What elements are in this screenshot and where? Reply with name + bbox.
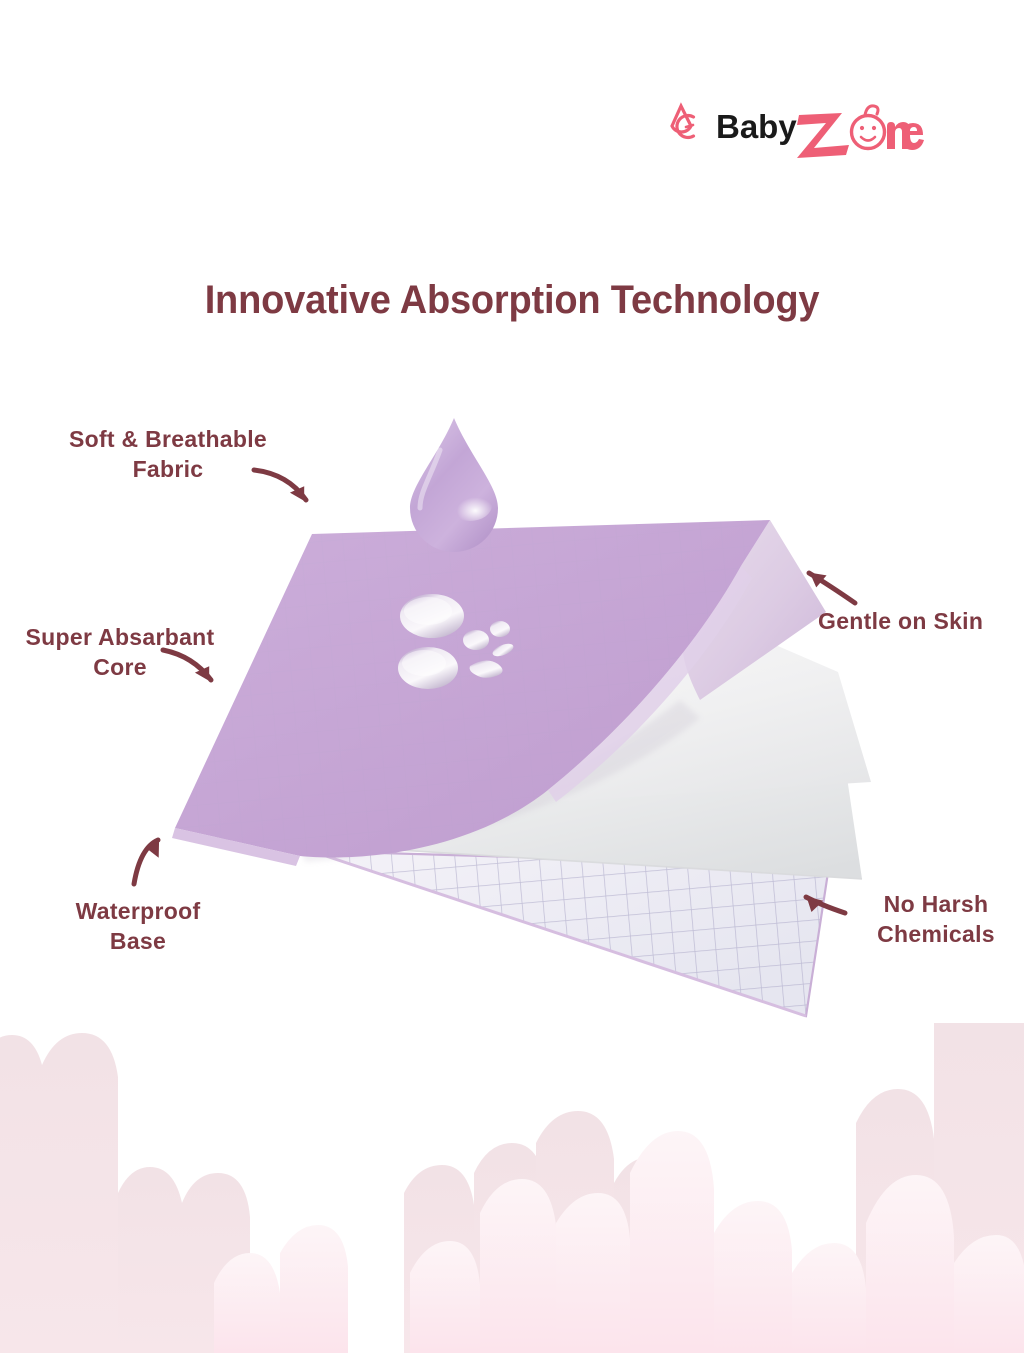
arrowhead-gentle <box>808 573 826 589</box>
callout-line-2: Chemicals <box>848 919 1024 949</box>
callout-line-2: Core <box>0 652 240 682</box>
callout-no-harsh-chemicals: No Harsh Chemicals <box>848 889 1024 950</box>
top-layer-curl-underside <box>682 520 826 700</box>
logo-text-baby: Baby <box>716 108 797 145</box>
callout-line-1: No Harsh <box>884 891 989 917</box>
pink-cloud-border <box>0 1023 1024 1353</box>
water-beads-on-surface <box>398 594 515 689</box>
callout-line-1: Waterproof <box>76 898 201 924</box>
callout-waterproof-base: Waterproof Base <box>48 896 228 957</box>
babyzone-logo: Baby <box>668 96 928 166</box>
logo-text-ne <box>887 122 924 150</box>
arrowhead-chemicals <box>805 897 823 913</box>
callout-line-2: Fabric <box>40 454 296 484</box>
waterproof-grid-base-layer <box>311 851 829 1016</box>
grid-pattern <box>300 840 860 1040</box>
callout-gentle-on-skin: Gentle on Skin <box>818 606 1018 636</box>
arrow-no-harsh-chemicals <box>806 897 845 913</box>
page-title: Innovative Absorption Technology <box>26 278 999 323</box>
arrow-waterproof-base <box>134 840 158 884</box>
falling-water-droplet <box>410 418 498 552</box>
callout-line-1: Super Absarbant <box>26 624 215 650</box>
top-fabric-layer <box>160 510 780 870</box>
arrowhead-waterproof <box>145 839 161 858</box>
callout-soft-breathable-fabric: Soft & Breathable Fabric <box>40 424 296 485</box>
callout-line-1: Gentle on Skin <box>818 608 983 634</box>
logo-letter-z <box>797 113 849 158</box>
inner-white-layer <box>205 700 862 879</box>
callout-super-absarbant-core: Super Absarbant Core <box>0 622 240 683</box>
logo-baby-face-o-icon <box>852 106 885 149</box>
absorbent-core-layer <box>215 608 871 823</box>
arrowhead-soft <box>289 483 308 501</box>
callout-line-1: Soft & Breathable <box>69 426 267 452</box>
cloud-row-back <box>0 1023 1024 1353</box>
arrow-gentle-on-skin <box>809 573 855 603</box>
drop-c-icon <box>672 106 694 138</box>
callout-line-2: Base <box>48 926 228 956</box>
logo-svg: Baby <box>668 96 928 166</box>
infographic-page: Baby Innovative Absorption Technology <box>0 0 1024 1353</box>
cloud-row-front <box>214 1131 1024 1353</box>
